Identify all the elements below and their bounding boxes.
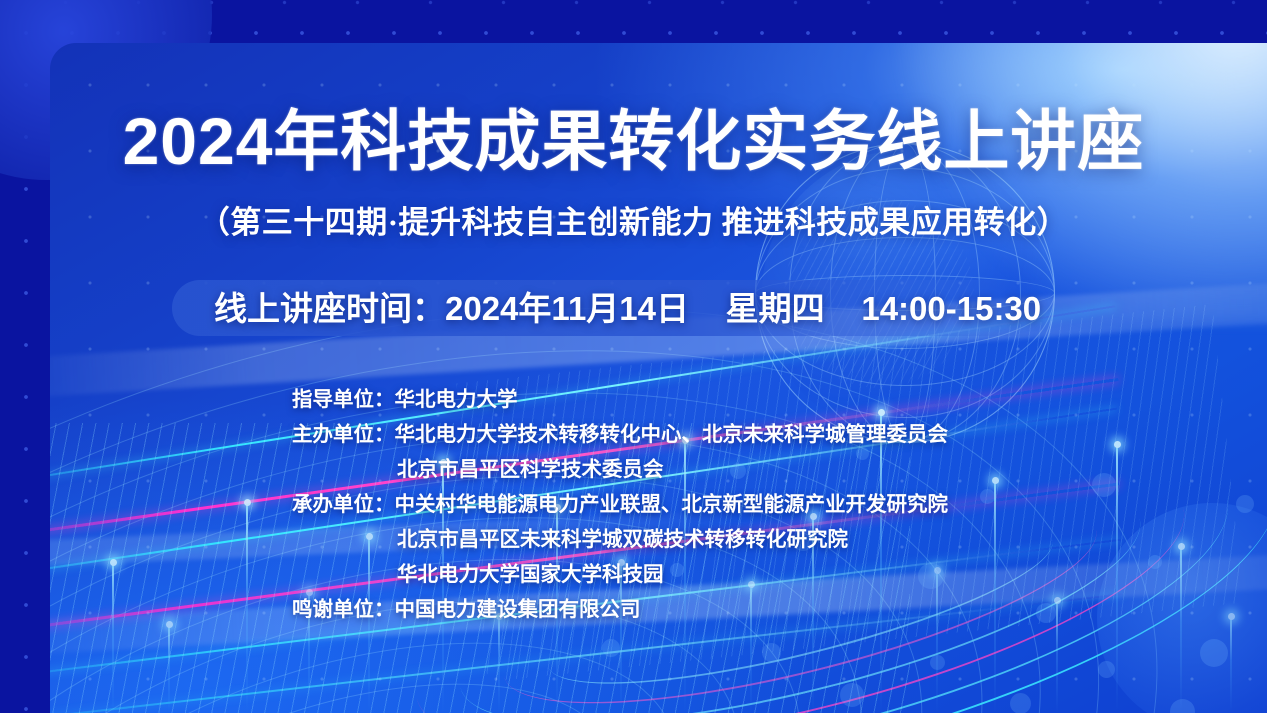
page-title: 2024年科技成果转化实务线上讲座	[0, 88, 1267, 184]
list-item: 北京市昌平区科学技术委员会	[292, 452, 948, 487]
list-item: 主办单位：华北电力大学技术转移转化中心、北京未来科学城管理委员会	[292, 417, 948, 452]
list-item: 北京市昌平区未来科学城双碳技术转移转化研究院	[292, 522, 948, 557]
organization-list: 指导单位：华北电力大学 主办单位：华北电力大学技术转移转化中心、北京未来科学城管…	[292, 382, 948, 627]
page-subtitle: （第三十四期·提升科技自主创新能力 推进科技成果应用转化）	[0, 197, 1267, 242]
poster-canvas: 2024年科技成果转化实务线上讲座 （第三十四期·提升科技自主创新能力 推进科技…	[0, 0, 1267, 713]
time-banner-text: 线上讲座时间：2024年11月14日 星期四 14:00-15:30	[214, 281, 1041, 337]
list-item: 指导单位：华北电力大学	[292, 382, 948, 417]
list-item: 华北电力大学国家大学科技园	[292, 557, 948, 592]
poster-content: 2024年科技成果转化实务线上讲座 （第三十四期·提升科技自主创新能力 推进科技…	[0, 0, 1267, 713]
list-item: 鸣谢单位：中国电力建设集团有限公司	[292, 592, 948, 627]
list-item: 承办单位：中关村华电能源电力产业联盟、北京新型能源产业开发研究院	[292, 487, 948, 522]
